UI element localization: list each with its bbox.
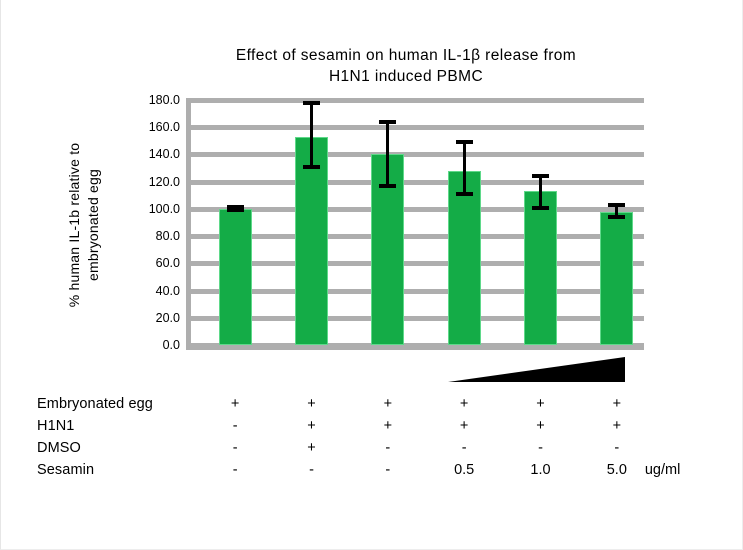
bar [219, 209, 252, 345]
gridline [186, 289, 644, 294]
condition-row-label: Sesamin [37, 462, 94, 478]
figure-canvas: Effect of sesamin on human IL-1β release… [0, 0, 743, 550]
condition-cell: - [511, 440, 571, 456]
increasing-dose-triangle-icon [448, 357, 625, 384]
y-axis-tick-label: 140.0 [120, 148, 180, 160]
gridline [186, 316, 644, 321]
condition-cell: - [358, 440, 418, 456]
condition-cell: - [587, 440, 647, 456]
condition-cell: + [511, 418, 571, 434]
condition-cell: + [282, 418, 342, 434]
gridline [186, 234, 644, 239]
condition-cell: - [205, 418, 265, 434]
gridline [186, 152, 644, 157]
y-axis-tick-label: 120.0 [120, 176, 180, 188]
error-bar-cap-lower [227, 208, 244, 212]
error-bar-line [386, 122, 389, 186]
bar [448, 171, 481, 345]
condition-cell: + [358, 396, 418, 412]
y-axis-tick-label: 180.0 [120, 94, 180, 106]
condition-table: Embryonated egg++++++H1N1-+++++DMSO-+---… [37, 396, 717, 484]
condition-cell: 0.5 [434, 462, 494, 478]
condition-cell: + [587, 396, 647, 412]
condition-cell: + [434, 396, 494, 412]
condition-row: DMSO-+---- [37, 440, 717, 462]
error-bar-cap-upper [303, 101, 320, 105]
error-bar-cap-lower [608, 215, 625, 219]
condition-row-label: H1N1 [37, 418, 74, 434]
y-axis-tick-labels: 180.0160.0140.0120.0100.080.060.040.020.… [114, 100, 180, 350]
condition-unit-label: ug/ml [645, 462, 680, 478]
y-axis-tick-label: 100.0 [120, 203, 180, 215]
condition-cell: + [434, 418, 494, 434]
gridline [186, 98, 644, 103]
condition-cell: - [205, 462, 265, 478]
condition-cell: + [511, 396, 571, 412]
chart-title: Effect of sesamin on human IL-1β release… [151, 45, 661, 87]
error-bar-cap-lower [532, 206, 549, 210]
error-bar-cap-upper [379, 120, 396, 124]
condition-cell: + [358, 418, 418, 434]
y-axis-tick-label: 80.0 [120, 230, 180, 242]
y-axis-title: % human IL-1b relative to embryonated eg… [65, 90, 103, 360]
gridline [186, 343, 644, 348]
condition-row: Embryonated egg++++++ [37, 396, 717, 418]
error-bar-line [463, 142, 466, 194]
gridline [186, 125, 644, 130]
condition-cell: + [205, 396, 265, 412]
error-bar-cap-upper [532, 174, 549, 178]
bar [524, 191, 557, 345]
condition-cell: + [282, 440, 342, 456]
condition-cell: + [282, 396, 342, 412]
y-axis-tick-label: 20.0 [120, 312, 180, 324]
condition-cell: - [358, 462, 418, 478]
condition-cell: 1.0 [511, 462, 571, 478]
gridline [186, 261, 644, 266]
gridline [186, 207, 644, 212]
error-bar-cap-upper [456, 140, 473, 144]
y-axis-tick-label: 60.0 [120, 257, 180, 269]
condition-cell: + [587, 418, 647, 434]
error-bar-cap-lower [303, 165, 320, 169]
plot-area [186, 100, 644, 345]
error-bar-line [539, 176, 542, 207]
condition-row: H1N1-+++++ [37, 418, 717, 440]
y-axis-tick-label: 160.0 [120, 121, 180, 133]
error-bar-cap-lower [456, 192, 473, 196]
condition-cell: - [282, 462, 342, 478]
y-axis-tick-label: 0.0 [120, 339, 180, 351]
error-bar-line [310, 103, 313, 167]
condition-row-label: DMSO [37, 440, 81, 456]
gridline [186, 180, 644, 185]
condition-cell: - [434, 440, 494, 456]
condition-cell: - [205, 440, 265, 456]
condition-cell: 5.0 [587, 462, 647, 478]
y-axis-tick-label: 40.0 [120, 285, 180, 297]
bar [600, 212, 633, 345]
error-bar-cap-upper [608, 203, 625, 207]
condition-row-label: Embryonated egg [37, 396, 153, 412]
condition-row: Sesamin---0.51.05.0ug/ml [37, 462, 717, 484]
error-bar-cap-lower [379, 184, 396, 188]
